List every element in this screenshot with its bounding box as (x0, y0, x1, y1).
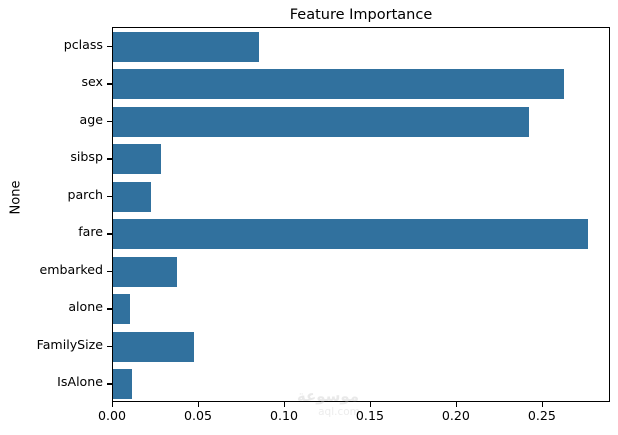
y-tick-mark (107, 233, 112, 234)
y-tick-label: fare (78, 225, 103, 239)
x-tick-mark (284, 402, 285, 407)
bar (113, 369, 132, 399)
y-tick-label: embarked (40, 263, 104, 277)
bar (113, 332, 194, 362)
x-tick-mark (370, 402, 371, 407)
x-tick-label: 0.05 (163, 408, 233, 423)
bar (113, 32, 259, 62)
y-tick-label: sibsp (70, 150, 103, 164)
x-tick-label: 0.10 (249, 408, 319, 423)
x-tick-mark (456, 402, 457, 407)
y-tick-mark (107, 346, 112, 347)
plot-area (112, 27, 610, 402)
x-tick-label: 0.25 (507, 408, 577, 423)
y-tick-label: sex (81, 75, 103, 89)
x-tick-mark (542, 402, 543, 407)
x-tick-label: 0.15 (335, 408, 405, 423)
bar (113, 107, 529, 137)
x-tick-mark (112, 402, 113, 407)
y-tick-label: parch (67, 188, 103, 202)
y-tick-label: IsAlone (57, 375, 103, 389)
y-tick-mark (107, 158, 112, 159)
y-tick-mark (107, 46, 112, 47)
bar (113, 294, 130, 324)
y-tick-label: pclass (64, 38, 103, 52)
x-tick-label: 0.00 (77, 408, 147, 423)
page-title: Feature Importance (112, 6, 610, 24)
matplotlib-figure: Feature Importance None موسوعة aql.com p… (0, 0, 618, 435)
y-tick-mark (107, 271, 112, 272)
bar (113, 257, 177, 287)
y-tick-label: FamilySize (37, 338, 103, 352)
bar (113, 144, 161, 174)
bar (113, 69, 564, 99)
y-tick-mark (107, 308, 112, 309)
y-axis-label: None (9, 168, 24, 228)
x-tick-mark (198, 402, 199, 407)
y-tick-mark (107, 83, 112, 84)
y-tick-mark (107, 121, 112, 122)
y-tick-mark (107, 196, 112, 197)
bar (113, 219, 588, 249)
bar (113, 182, 151, 212)
x-tick-label: 0.20 (421, 408, 491, 423)
y-tick-label: alone (68, 300, 103, 314)
y-tick-label: age (80, 113, 103, 127)
y-tick-mark (107, 383, 112, 384)
